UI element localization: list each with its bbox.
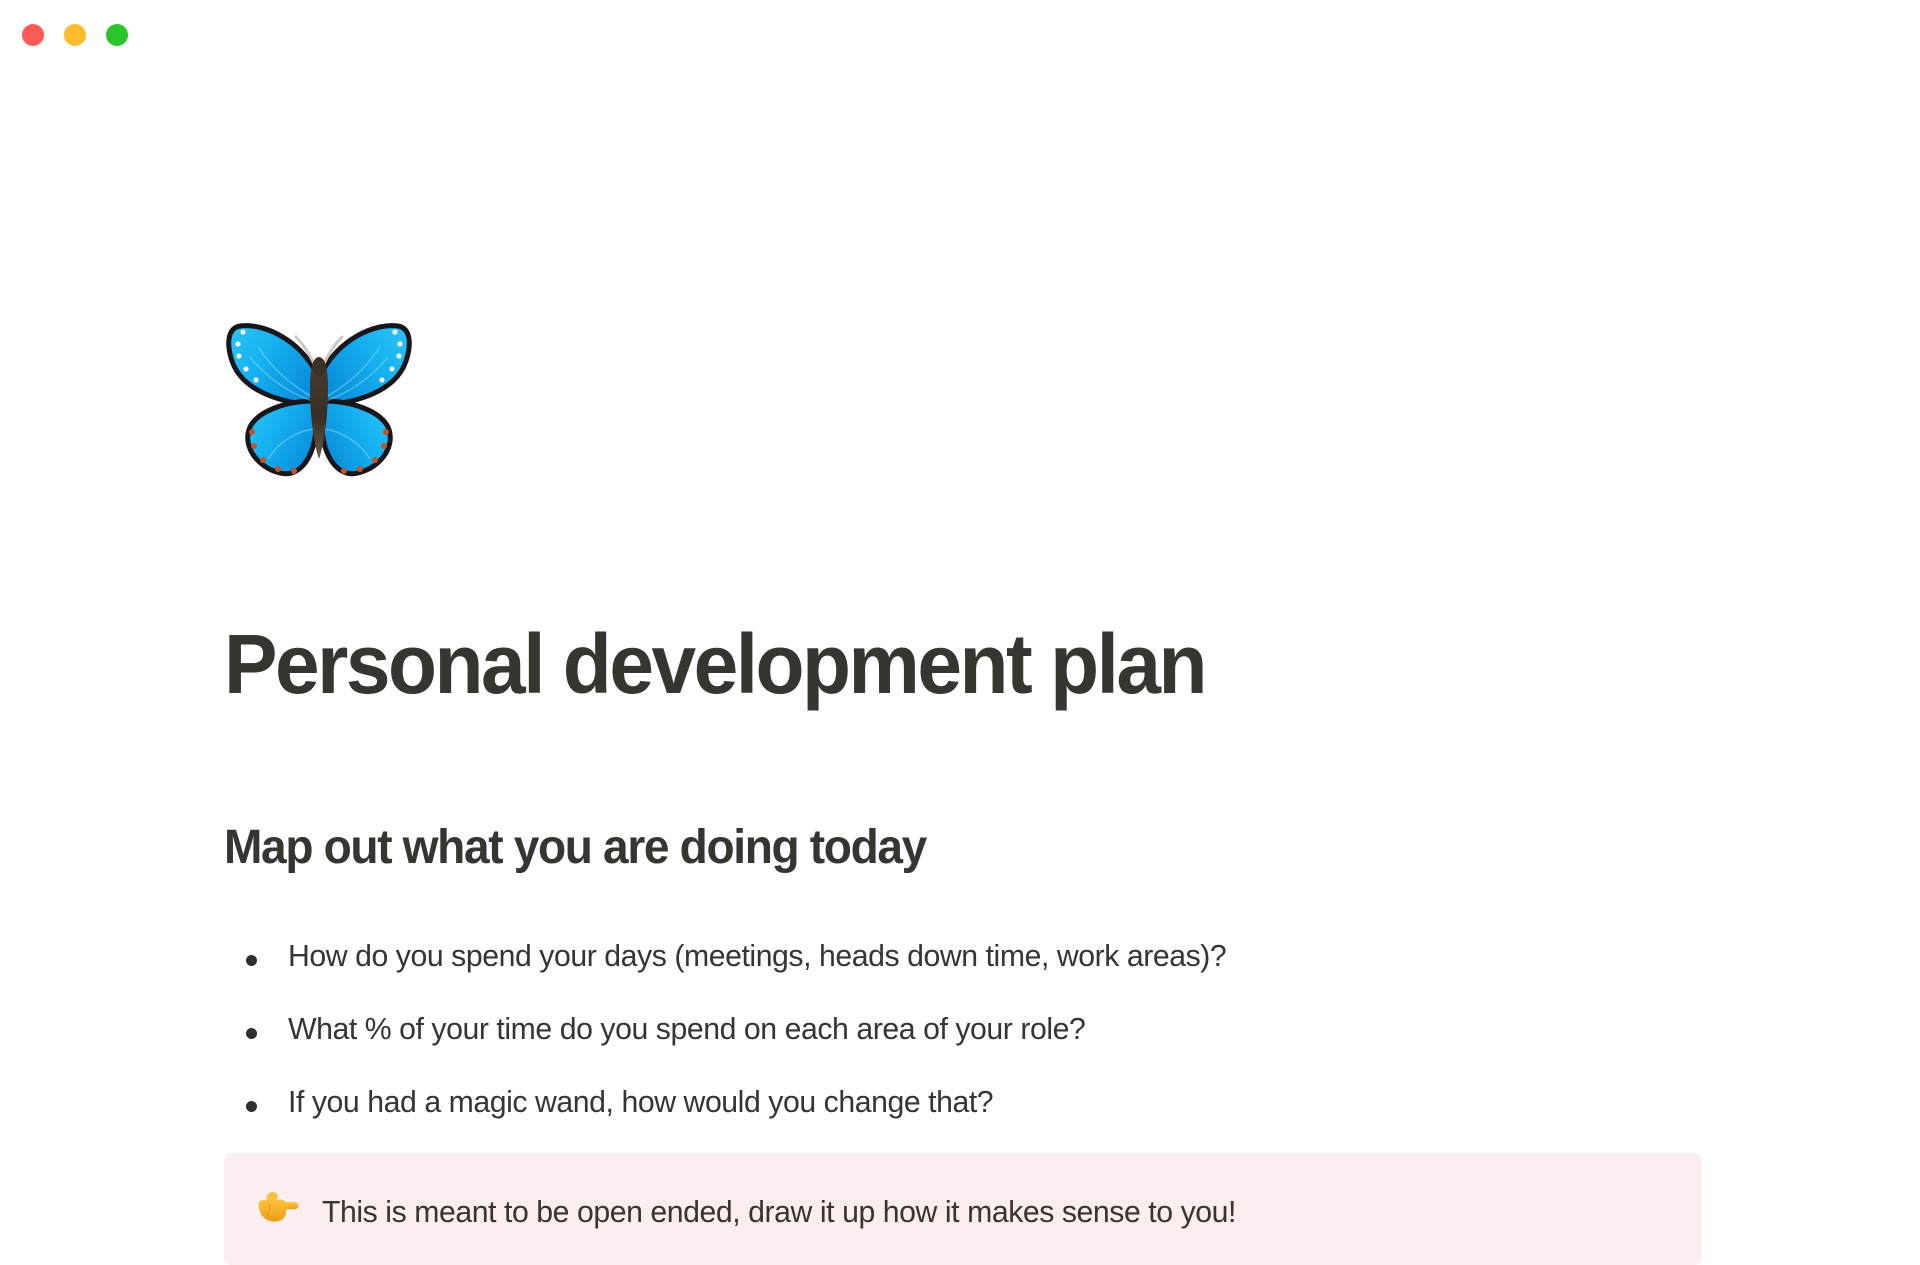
list-item[interactable]: What % of your time do you spend on each… [224,1007,1704,1080]
callout-text: This is meant to be open ended, draw it … [322,1192,1236,1232]
bullet-list: How do you spend your days (meetings, he… [224,934,1704,1153]
document-page: Personal development plan Map out what y… [0,62,1920,1200]
maximize-button[interactable] [106,24,128,46]
bullet-marker-icon [246,1028,257,1039]
butterfly-icon[interactable] [224,317,414,482]
list-item-label: If you had a magic wand, how would you c… [288,1080,993,1123]
list-item[interactable]: How do you spend your days (meetings, he… [224,934,1704,1007]
page-title[interactable]: Personal development plan [224,622,1205,708]
section-heading[interactable]: Map out what you are doing today [224,822,926,875]
callout-block[interactable]: This is meant to be open ended, draw it … [224,1153,1702,1265]
minimize-button[interactable] [64,24,86,46]
pointing-right-hand-icon [256,1186,300,1226]
bullet-marker-icon [246,1101,257,1112]
close-button[interactable] [22,24,44,46]
window-titlebar [0,0,1920,62]
bullet-marker-icon [246,955,257,966]
app-window: Personal development plan Map out what y… [0,0,1920,1200]
window-traffic-lights [22,24,128,46]
list-item[interactable]: If you had a magic wand, how would you c… [224,1080,1704,1153]
list-item-label: What % of your time do you spend on each… [288,1007,1085,1050]
list-item-label: How do you spend your days (meetings, he… [288,934,1226,977]
